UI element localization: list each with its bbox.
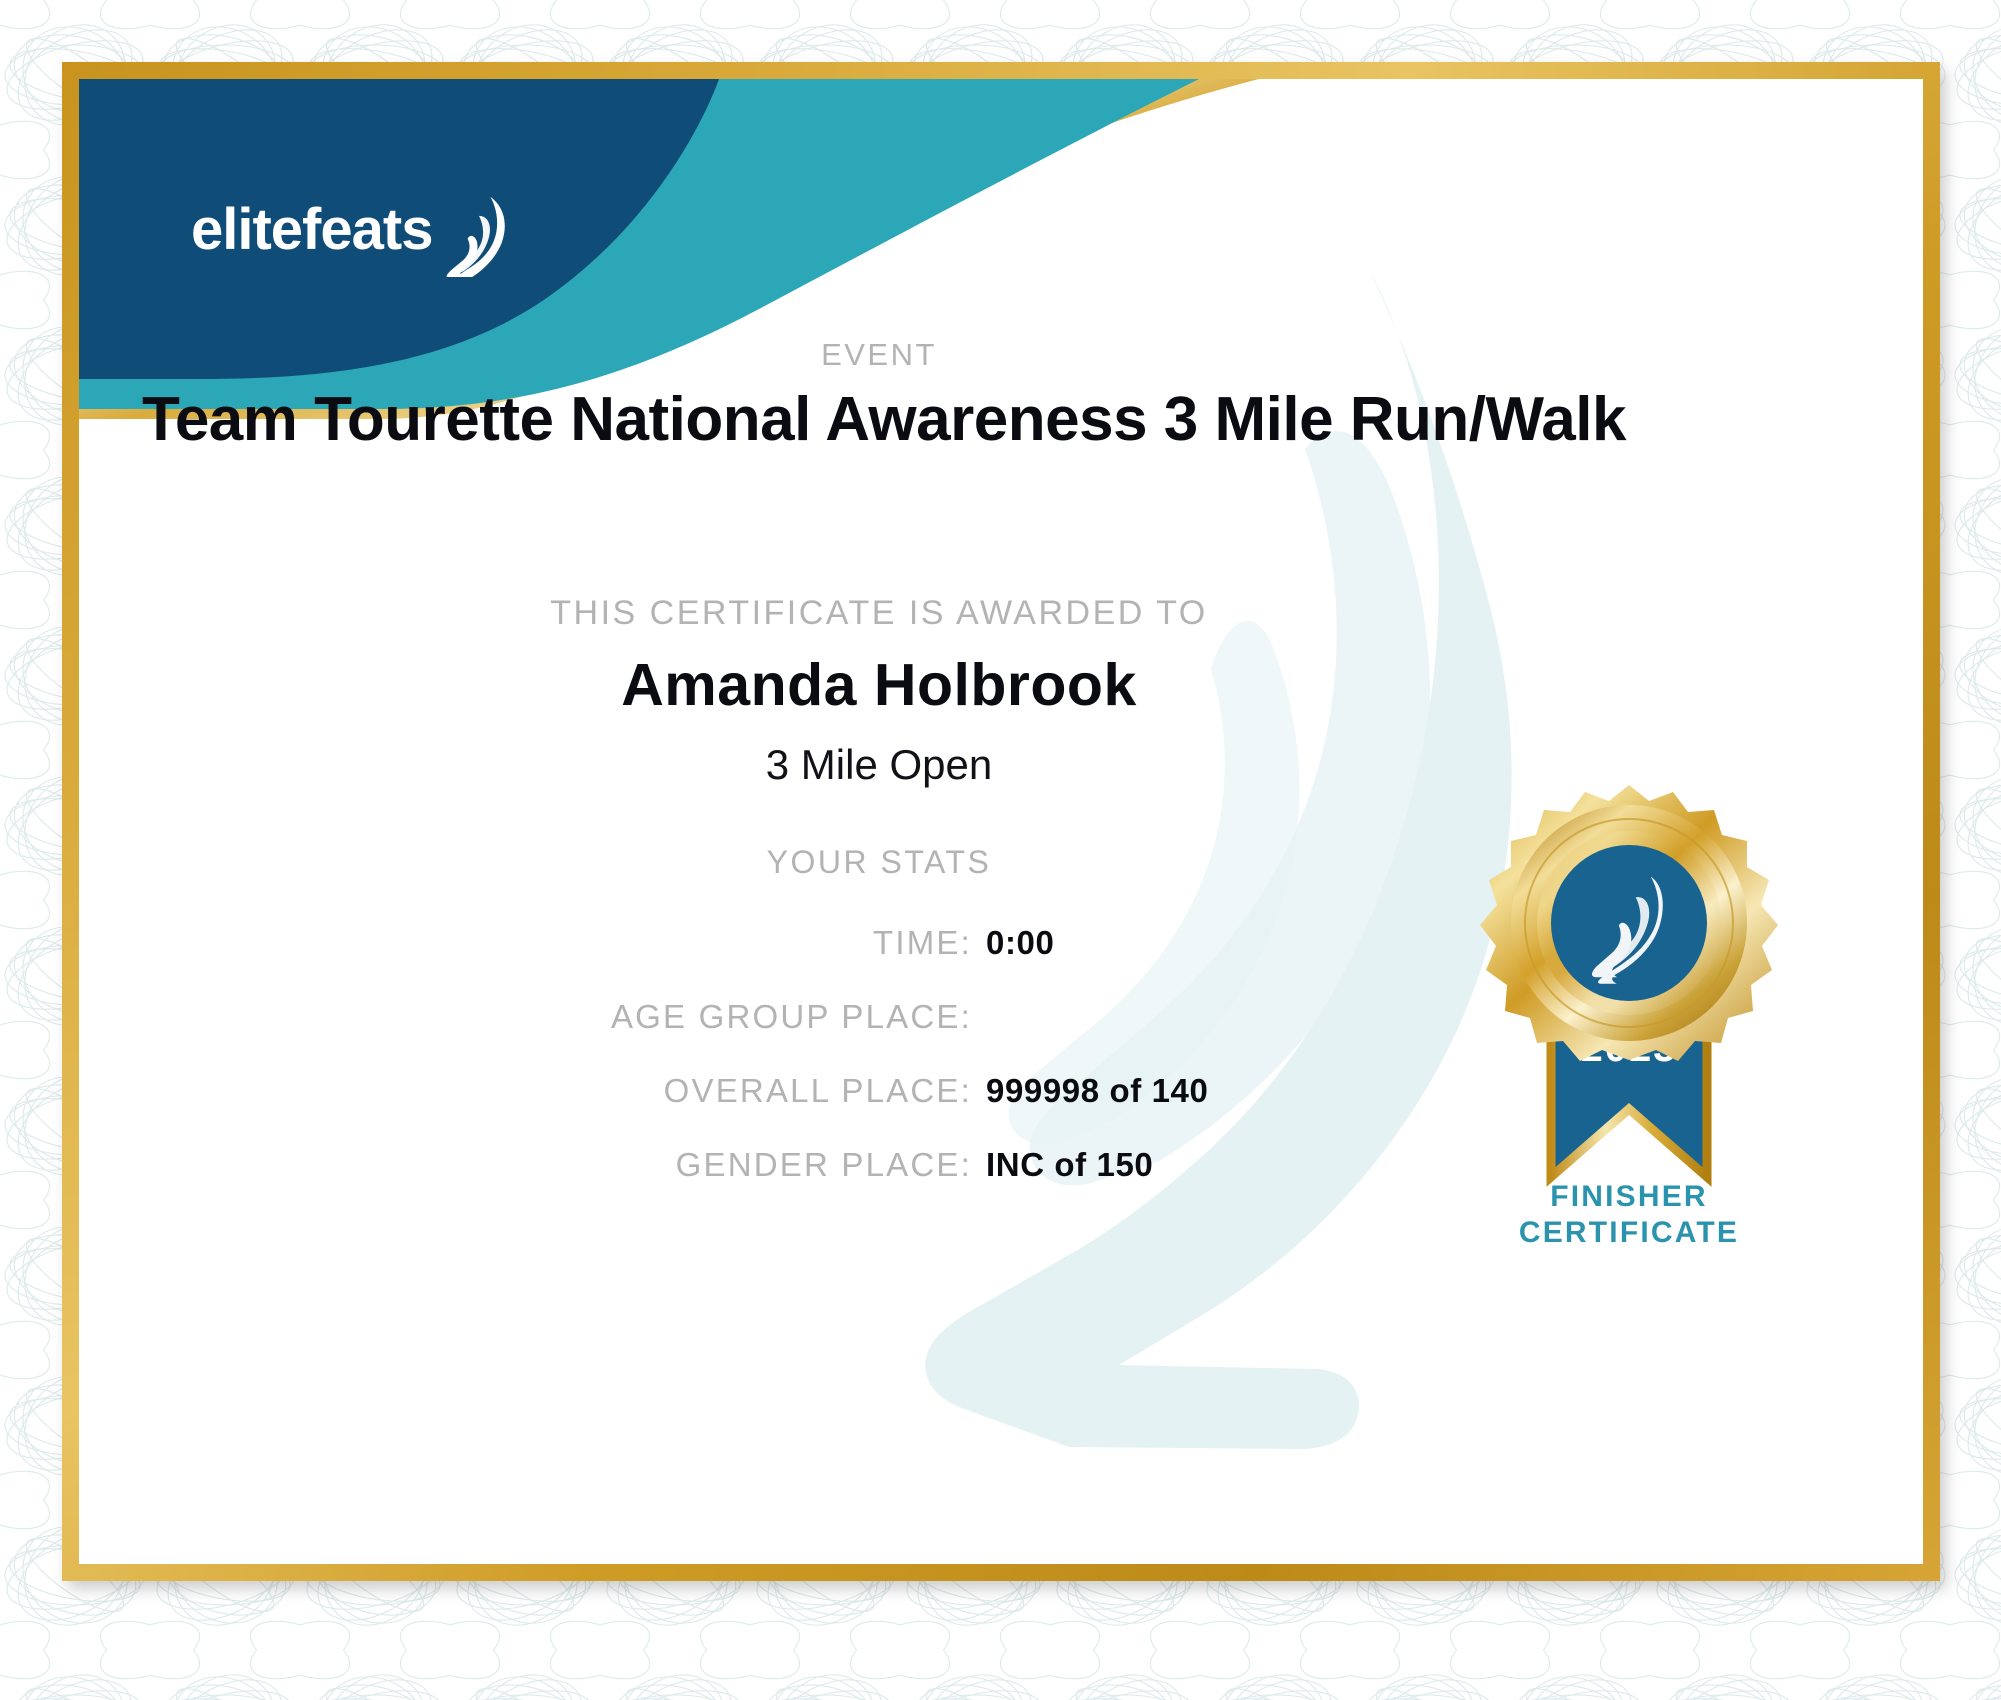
stat-label-gender-place: GENDER PLACE: xyxy=(352,1146,972,1184)
stat-value-gender-place: INC of 150 xyxy=(972,1146,1406,1184)
certificate-page: elitefeats EVENT Team Tourette National … xyxy=(0,0,2001,1700)
stat-row-gender-place: GENDER PLACE: INC of 150 xyxy=(79,1146,1679,1190)
winged-foot-icon xyxy=(447,197,505,277)
event-title: Team Tourette National Awareness 3 Mile … xyxy=(79,384,1689,455)
stats-table: TIME: 0:00 AGE GROUP PLACE: OVERALL PLAC… xyxy=(79,924,1679,1220)
award-medal-rosette-icon: 2023 xyxy=(1459,779,1799,1199)
awarded-to-label: THIS CERTIFICATE IS AWARDED TO xyxy=(79,594,1679,633)
event-label: EVENT xyxy=(79,337,1679,373)
finisher-medal: 2023 FINISHER CERTIFICATE xyxy=(1459,779,1799,1279)
division-name: 3 Mile Open xyxy=(79,741,1679,789)
finisher-caption-line2: CERTIFICATE xyxy=(1459,1215,1799,1251)
stat-label-time: TIME: xyxy=(352,924,972,962)
stat-value-time: 0:00 xyxy=(972,924,1406,962)
stat-label-overall-place: OVERALL PLACE: xyxy=(352,1072,972,1110)
stat-row-overall-place: OVERALL PLACE: 999998 of 140 xyxy=(79,1072,1679,1116)
logo-wordmark: elitefeats xyxy=(191,197,432,262)
recipient-name: Amanda Holbrook xyxy=(79,651,1679,719)
stat-value-overall-place: 999998 of 140 xyxy=(972,1072,1406,1110)
stat-label-age-group-place: AGE GROUP PLACE: xyxy=(352,998,972,1036)
your-stats-label: YOUR STATS xyxy=(79,844,1679,881)
finisher-certificate-caption: FINISHER CERTIFICATE xyxy=(1459,1179,1799,1251)
stat-row-age-group-place: AGE GROUP PLACE: xyxy=(79,998,1679,1042)
finisher-caption-line1: FINISHER xyxy=(1459,1179,1799,1215)
certificate-body: elitefeats EVENT Team Tourette National … xyxy=(79,79,1923,1564)
stat-row-time: TIME: 0:00 xyxy=(79,924,1679,968)
elitefeats-logo: elitefeats xyxy=(191,187,511,277)
